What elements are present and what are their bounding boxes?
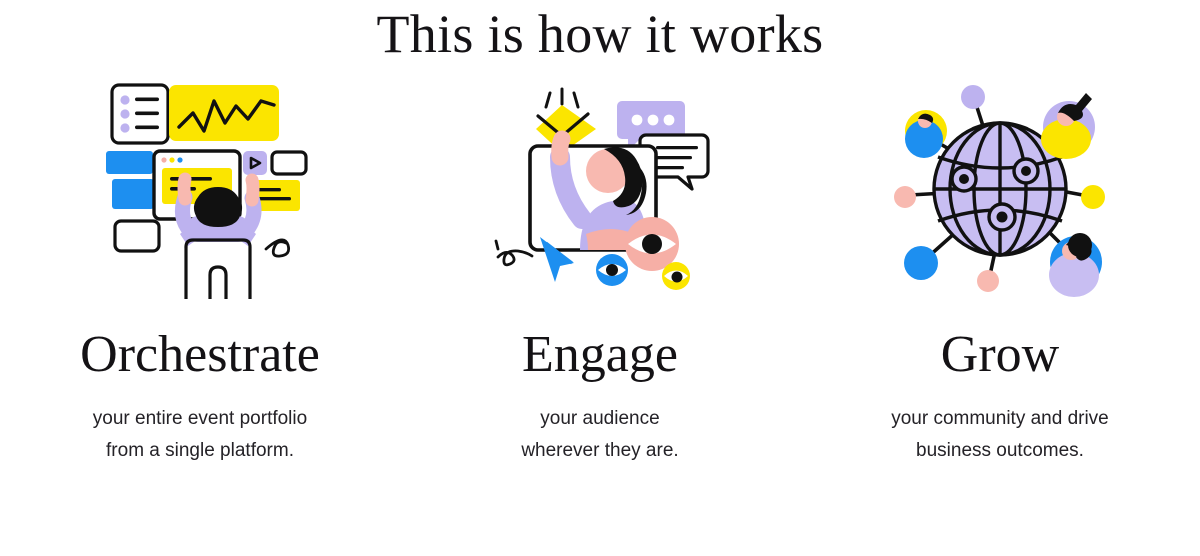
step-description-line: your entire event portfolio <box>93 403 307 435</box>
step-description: your entire event portfolio from a singl… <box>93 403 307 467</box>
step-title: Grow <box>941 329 1059 381</box>
video-audience-illustration <box>480 79 720 299</box>
steps-row: Orchestrate your entire event portfolio … <box>0 79 1200 467</box>
step-card-orchestrate: Orchestrate your entire event portfolio … <box>0 79 400 467</box>
step-title: Engage <box>522 329 678 381</box>
step-description-line: wherever they are. <box>521 435 678 467</box>
step-description-line: your community and drive <box>891 403 1109 435</box>
step-description-line: from a single platform. <box>93 435 307 467</box>
globe-network-illustration <box>880 79 1120 299</box>
step-card-grow: Grow your community and drive business o… <box>800 79 1200 467</box>
step-description: your audience wherever they are. <box>521 403 678 467</box>
step-description: your community and drive business outcom… <box>891 403 1109 467</box>
step-description-line: business outcomes. <box>891 435 1109 467</box>
dashboard-person-illustration <box>80 79 320 299</box>
page-title: This is how it works <box>0 0 1200 63</box>
how-it-works-section: This is how it works <box>0 0 1200 556</box>
step-title: Orchestrate <box>80 329 320 381</box>
step-card-engage: Engage your audience wherever they are. <box>400 79 800 467</box>
step-description-line: your audience <box>521 403 678 435</box>
